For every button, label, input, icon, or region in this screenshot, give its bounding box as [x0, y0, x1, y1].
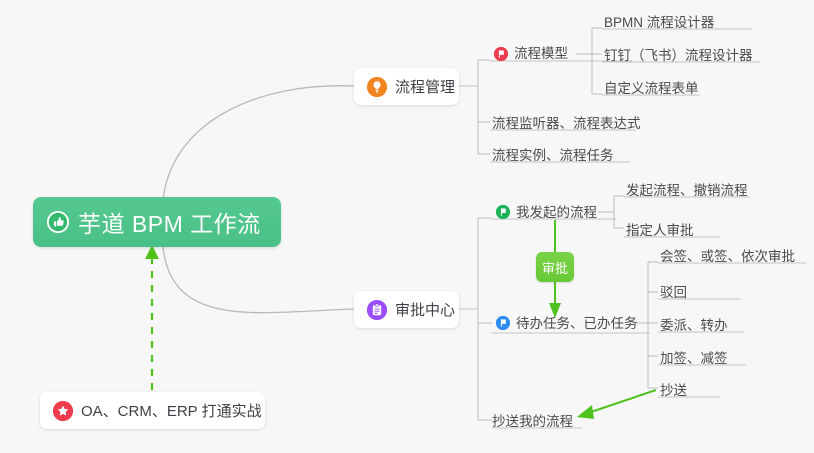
edge-root-to-approval-center	[163, 247, 354, 313]
leaf-custom-process-form[interactable]: 自定义流程表单	[604, 82, 699, 96]
star-icon	[53, 401, 73, 421]
flag-icon-my-initiated	[496, 205, 510, 219]
branch-label: 流程管理	[395, 76, 455, 97]
leaf-delegate-transfer[interactable]: 委派、转办	[660, 319, 728, 333]
leaf-cc-to-me-processes[interactable]: 抄送我的流程	[492, 415, 573, 429]
tag-label: 审批	[542, 258, 568, 277]
leaf-start-cancel-process[interactable]: 发起流程、撤销流程	[626, 184, 748, 198]
leaf-reject[interactable]: 驳回	[660, 286, 687, 300]
root-label: 芋道 BPM 工作流	[78, 205, 261, 239]
leaf-my-initiated-processes[interactable]: 我发起的流程	[516, 206, 597, 220]
leaf-assignee-approval[interactable]: 指定人审批	[626, 224, 694, 238]
leaf-todo-done-tasks[interactable]: 待办任务、已办任务	[516, 317, 638, 331]
leaf-bpmn-designer[interactable]: BPMN 流程设计器	[604, 16, 714, 30]
branch-node-flow-management[interactable]: 流程管理	[354, 68, 459, 105]
leaf-add-remove-sign[interactable]: 加签、减签	[660, 352, 728, 366]
branch-label: 审批中心	[395, 299, 455, 320]
flag-icon-todo-done-tasks	[496, 316, 510, 330]
thumbs-up-icon	[47, 211, 69, 233]
leaf-process-instance-task[interactable]: 流程实例、流程任务	[492, 149, 614, 163]
tag-approval[interactable]: 审批	[536, 252, 574, 282]
leaf-carbon-copy[interactable]: 抄送	[660, 384, 687, 398]
arrow-head-oa-to-root	[145, 245, 159, 259]
branch-node-approval-center[interactable]: 审批中心	[354, 291, 459, 328]
leaf-process-listener-expression[interactable]: 流程监听器、流程表达式	[492, 117, 641, 131]
edge-root-to-flow-management	[163, 86, 354, 200]
arrow-head-cc-to-ccmine	[577, 405, 594, 419]
mindmap-canvas: 芋道 BPM 工作流 OA、CRM、ERP 打通实战 流程管理	[0, 0, 814, 453]
root-node[interactable]: 芋道 BPM 工作流	[33, 197, 281, 247]
side-note-label: OA、CRM、ERP 打通实战	[81, 400, 262, 421]
lightbulb-icon	[367, 77, 387, 97]
leaf-countersign-orsign-sequential[interactable]: 会签、或签、依次审批	[660, 250, 795, 264]
edge-cc-to-ccmine	[588, 390, 656, 413]
side-note-oa-crm-erp[interactable]: OA、CRM、ERP 打通实战	[40, 392, 265, 429]
flag-icon-process-model	[494, 47, 508, 61]
clipboard-icon	[367, 300, 387, 320]
leaf-dingtalk-feishu-designer[interactable]: 钉钉（飞书）流程设计器	[604, 49, 753, 63]
leaf-process-model[interactable]: 流程模型	[514, 47, 568, 61]
